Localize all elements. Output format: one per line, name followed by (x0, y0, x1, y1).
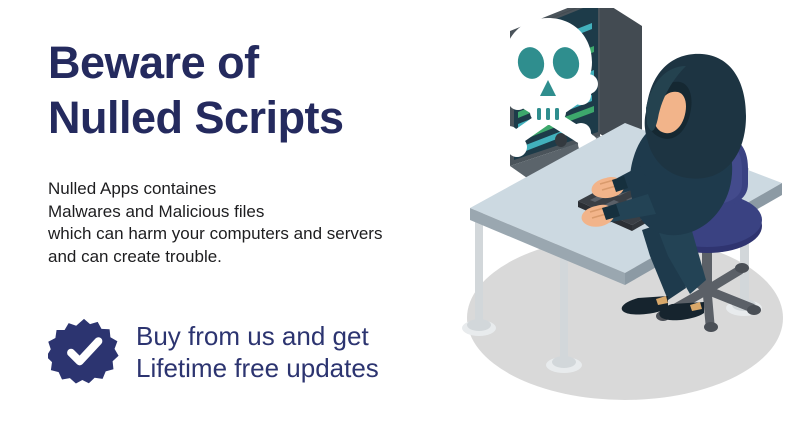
verified-check-seal-icon (48, 316, 120, 388)
hacker-illustration (410, 8, 800, 428)
hacker-at-desk-isometric-illustration (410, 8, 800, 428)
badge-text: Buy from us and get Lifetime free update… (136, 320, 379, 384)
lifetime-updates-badge: Buy from us and get Lifetime free update… (48, 316, 379, 388)
page-title: Beware of Nulled Scripts (48, 36, 344, 146)
headline-line-2: Nulled Scripts (48, 91, 344, 146)
banner-root: Beware of Nulled Scripts Nulled Apps con… (0, 0, 800, 442)
badge-line-1: Buy from us and get (136, 320, 379, 352)
headline-line-1: Beware of (48, 36, 344, 91)
badge-line-2: Lifetime free updates (136, 352, 379, 384)
